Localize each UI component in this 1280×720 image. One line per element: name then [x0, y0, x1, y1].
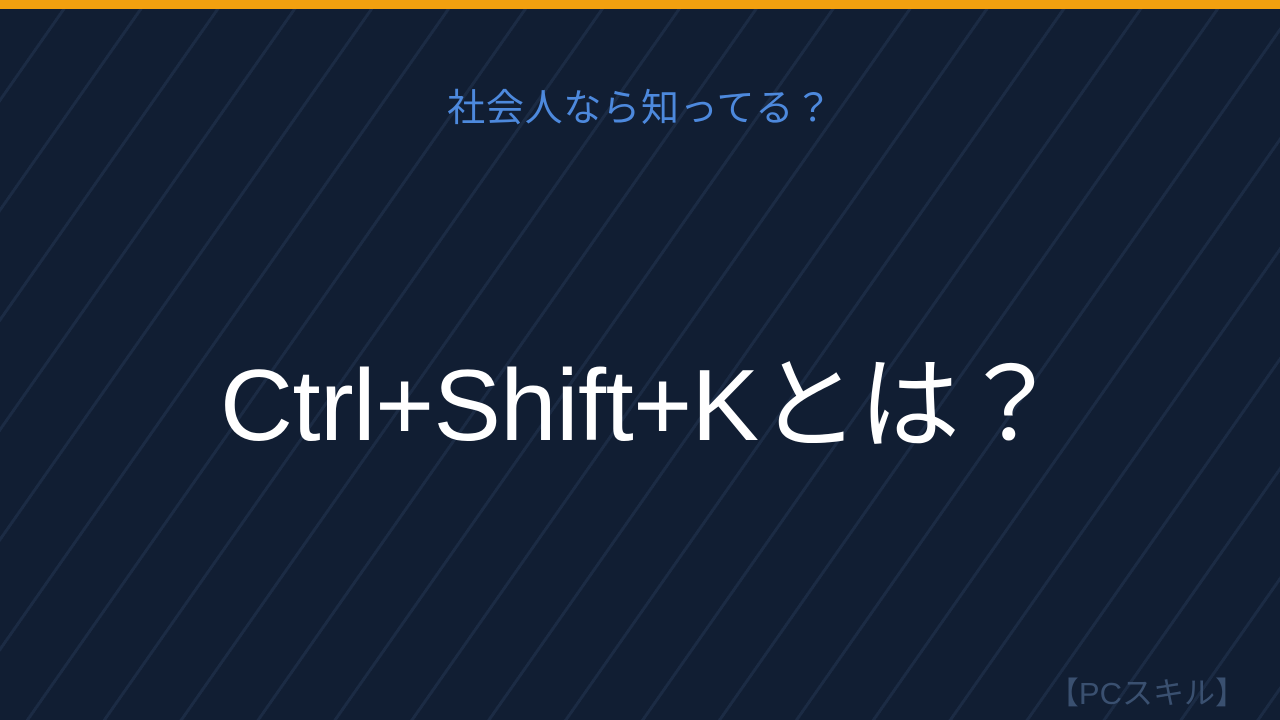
slide-subtitle: 社会人なら知ってる？	[0, 84, 1280, 135]
top-accent-bar	[0, 0, 1280, 9]
category-tag: 【PCスキル】	[1048, 674, 1246, 714]
slide-title: Ctrl+Shift+Kとは？	[0, 348, 1280, 464]
presentation-slide: 社会人なら知ってる？ Ctrl+Shift+Kとは？ 【PCスキル】	[0, 0, 1280, 720]
